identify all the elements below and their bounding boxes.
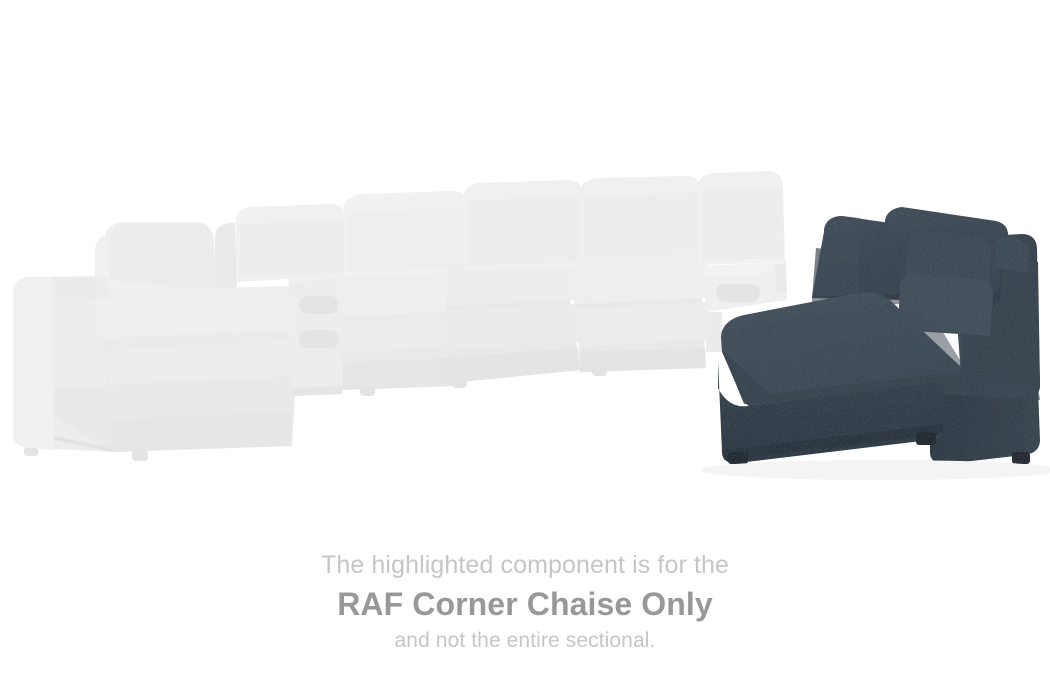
sectional-illustration <box>0 0 1050 540</box>
caption-block: The highlighted component is for the RAF… <box>0 548 1050 656</box>
foot-front-right <box>916 432 936 445</box>
cupholder-icon <box>299 330 339 348</box>
cupholder-icon <box>716 284 760 302</box>
sectional-svg <box>0 0 1050 540</box>
cupholder-icon <box>299 296 339 314</box>
ghosted-sectional-group <box>13 171 787 461</box>
chaise-shadow <box>700 460 1050 480</box>
module-armless-chair-2 <box>344 191 469 277</box>
caption-line-1: The highlighted component is for the <box>0 548 1050 582</box>
caption-line-2: RAF Corner Chaise Only <box>0 582 1050 626</box>
module-back-right-seat <box>698 171 785 265</box>
module-console-left <box>288 264 342 396</box>
product-image-canvas: The highlighted component is for the RAF… <box>0 0 1050 700</box>
caption-line-3: and not the entire sectional. <box>0 626 1050 656</box>
foot-rear-right <box>1012 452 1030 464</box>
foot-front-left <box>728 452 748 464</box>
module-armless-chair-3 <box>574 176 708 376</box>
